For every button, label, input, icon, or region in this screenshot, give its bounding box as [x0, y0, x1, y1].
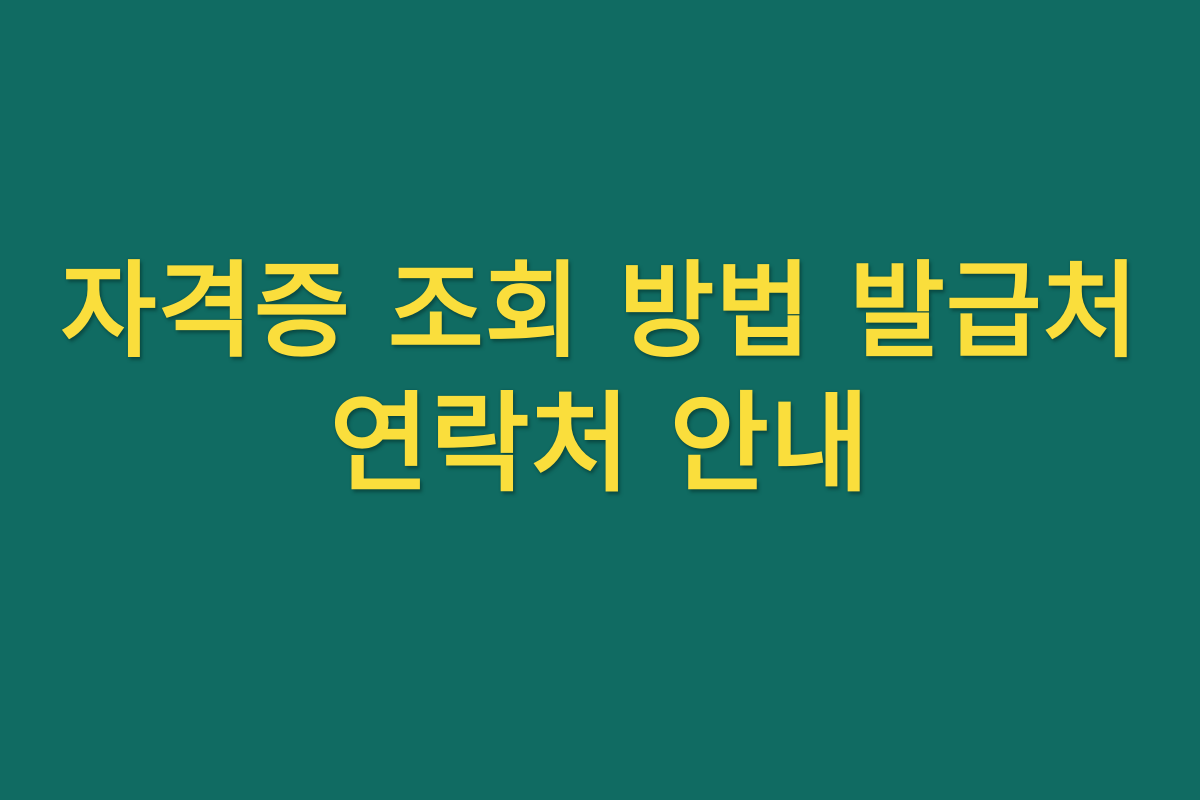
- title-card: 자격증 조회 방법 발급처 연락처 안내: [0, 0, 1200, 800]
- title-line-1: 자격증 조회 방법 발급처: [0, 244, 1200, 378]
- title-block: 자격증 조회 방법 발급처 연락처 안내: [0, 244, 1200, 512]
- title-line-2: 연락처 안내: [0, 378, 1200, 512]
